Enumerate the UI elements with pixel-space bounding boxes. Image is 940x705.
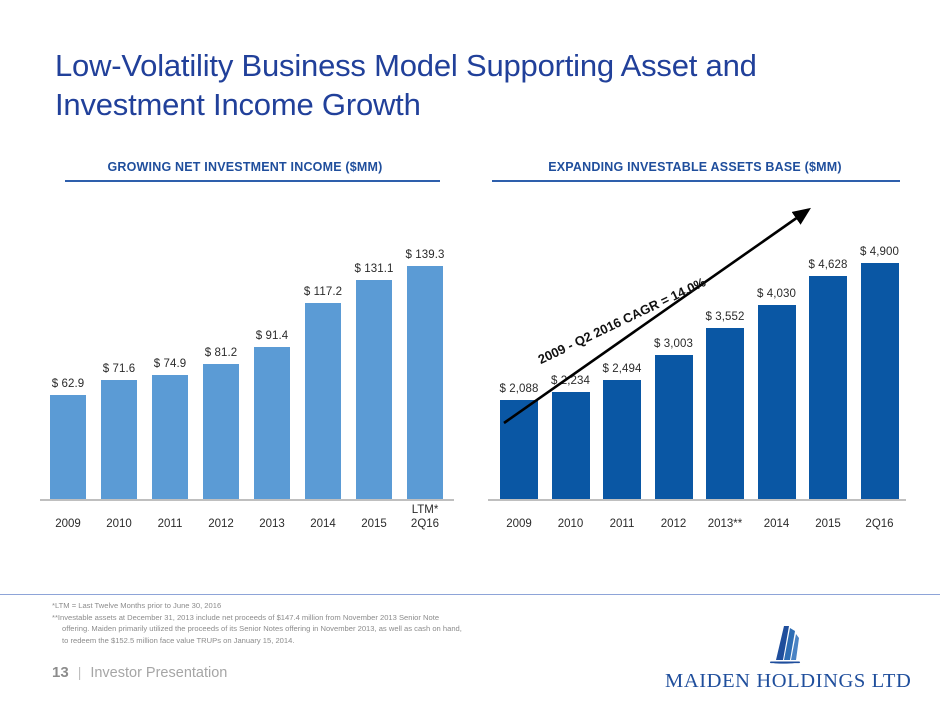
x-axis-tick-label: 2012 bbox=[195, 517, 247, 531]
bar-column: $ 4,030 bbox=[758, 288, 796, 501]
bar-value-label: $ 4,030 bbox=[757, 288, 796, 300]
x-axis-tick-label: 2010 bbox=[544, 517, 598, 531]
x-axis-tick-label: 2Q16 bbox=[853, 517, 907, 531]
bar-value-label: $ 81.2 bbox=[205, 347, 238, 359]
panel-right-header: EXPANDING INVESTABLE ASSETS BASE ($MM) bbox=[478, 160, 912, 180]
bar-value-label: $ 3,552 bbox=[705, 311, 744, 323]
bar bbox=[809, 276, 847, 501]
page-number: 13 bbox=[52, 664, 69, 681]
footnote-line-2: **Investable assets at December 31, 2013… bbox=[52, 613, 439, 622]
panel-left-header: GROWING NET INVESTMENT INCOME ($MM) bbox=[30, 160, 460, 180]
x-axis-tick-label: 2010 bbox=[93, 517, 145, 531]
bar-value-label: $ 74.9 bbox=[154, 358, 187, 370]
bar bbox=[50, 395, 86, 501]
x-axis-tick-label: 2014 bbox=[297, 517, 349, 531]
footnotes: *LTM = Last Twelve Months prior to June … bbox=[52, 600, 612, 646]
panel-net-investment-income: GROWING NET INVESTMENT INCOME ($MM) $ 62… bbox=[30, 160, 460, 539]
x-axis-tick-label: 2009 bbox=[42, 517, 94, 531]
bar-value-label: $ 2,234 bbox=[551, 375, 590, 387]
page-footer-separator: | bbox=[78, 664, 82, 680]
x-axis-tick-label: LTM*2Q16 bbox=[399, 503, 451, 531]
bar-column: $ 3,552 bbox=[706, 311, 744, 501]
x-axis-tick-label: 2013 bbox=[246, 517, 298, 531]
plot-area-right: $ 2,088$ 2,234$ 2,494$ 3,003$ 3,552$ 4,0… bbox=[478, 194, 912, 501]
bar-column: $ 131.1 bbox=[356, 263, 392, 501]
chart-net-investment-income: $ 62.9$ 71.6$ 74.9$ 81.2$ 91.4$ 117.2$ 1… bbox=[30, 194, 460, 539]
page-title: Low-Volatility Business Model Supporting… bbox=[55, 46, 885, 124]
bar bbox=[254, 347, 290, 501]
bar bbox=[552, 392, 590, 501]
x-axis-tick-label: 2015 bbox=[348, 517, 400, 531]
bar-value-label: $ 4,628 bbox=[808, 259, 847, 271]
page-footer-label: Investor Presentation bbox=[90, 665, 227, 681]
bar bbox=[758, 305, 796, 501]
bar-value-label: $ 139.3 bbox=[405, 249, 444, 261]
bar-value-label: $ 3,003 bbox=[654, 338, 693, 350]
bar bbox=[407, 266, 443, 501]
company-logo: MAIDEN HOLDINGS LTD bbox=[665, 624, 897, 693]
bar-column: $ 117.2 bbox=[305, 286, 341, 501]
x-axis-tick-label: 2013** bbox=[698, 517, 752, 531]
bar-value-label: $ 131.1 bbox=[354, 263, 393, 275]
bar-column: $ 4,628 bbox=[809, 259, 847, 501]
bar-value-label: $ 62.9 bbox=[52, 378, 85, 390]
bar bbox=[101, 380, 137, 501]
footnote-line-1: *LTM = Last Twelve Months prior to June … bbox=[52, 601, 221, 610]
bar-value-label: $ 2,494 bbox=[602, 363, 641, 375]
bar-column: $ 2,088 bbox=[500, 383, 538, 501]
x-axis-tick-label: 2014 bbox=[750, 517, 804, 531]
x-axis-tick-label: 2011 bbox=[144, 517, 196, 531]
footer-divider bbox=[0, 594, 940, 595]
bar-column: $ 3,003 bbox=[655, 338, 693, 501]
panel-right-rule bbox=[492, 180, 900, 182]
bar bbox=[203, 364, 239, 501]
bar-value-label: $ 91.4 bbox=[256, 330, 289, 342]
footnote-line-3: offering. Maiden primarily utilized the … bbox=[52, 623, 612, 635]
bar-column: $ 62.9 bbox=[50, 378, 86, 501]
x-axis-line-left bbox=[40, 499, 454, 501]
x-axis-line-right bbox=[488, 499, 906, 501]
bar-column: $ 74.9 bbox=[152, 358, 188, 501]
bar-value-label: $ 117.2 bbox=[304, 286, 342, 298]
bar-column: $ 71.6 bbox=[101, 363, 137, 501]
bar-column: $ 4,900 bbox=[861, 246, 899, 501]
bar bbox=[305, 303, 341, 501]
bar bbox=[356, 280, 392, 501]
bar bbox=[655, 355, 693, 501]
bar-column: $ 2,234 bbox=[552, 375, 590, 501]
bar-column: $ 139.3 bbox=[407, 249, 443, 501]
chart-investable-assets: $ 2,088$ 2,234$ 2,494$ 3,003$ 3,552$ 4,0… bbox=[478, 194, 912, 539]
panel-left-rule bbox=[65, 180, 440, 182]
bar-value-label: $ 4,900 bbox=[860, 246, 899, 258]
bar-value-label: $ 2,088 bbox=[499, 383, 538, 395]
bar bbox=[152, 375, 188, 501]
x-axis-tick-label: 2009 bbox=[492, 517, 546, 531]
bar-column: $ 81.2 bbox=[203, 347, 239, 501]
x-axis-tick-label: 2012 bbox=[647, 517, 701, 531]
bar-column: $ 91.4 bbox=[254, 330, 290, 501]
bar bbox=[706, 328, 744, 501]
bar-column: $ 2,494 bbox=[603, 363, 641, 501]
x-axis-tick-label: 2011 bbox=[595, 517, 649, 531]
panel-investable-assets: EXPANDING INVESTABLE ASSETS BASE ($MM) $… bbox=[478, 160, 912, 539]
page-footer: 13 | Investor Presentation bbox=[52, 664, 227, 681]
bar bbox=[603, 380, 641, 501]
plot-area-left: $ 62.9$ 71.6$ 74.9$ 81.2$ 91.4$ 117.2$ 1… bbox=[30, 194, 460, 501]
x-axis-tick-label: 2015 bbox=[801, 517, 855, 531]
sail-logo-icon bbox=[750, 624, 812, 668]
bar bbox=[500, 400, 538, 501]
footnote-line-4: to redeem the $152.5 million face value … bbox=[52, 635, 612, 647]
bar-value-label: $ 71.6 bbox=[103, 363, 136, 375]
company-logo-text: MAIDEN HOLDINGS LTD bbox=[665, 670, 897, 693]
bar bbox=[861, 263, 899, 501]
